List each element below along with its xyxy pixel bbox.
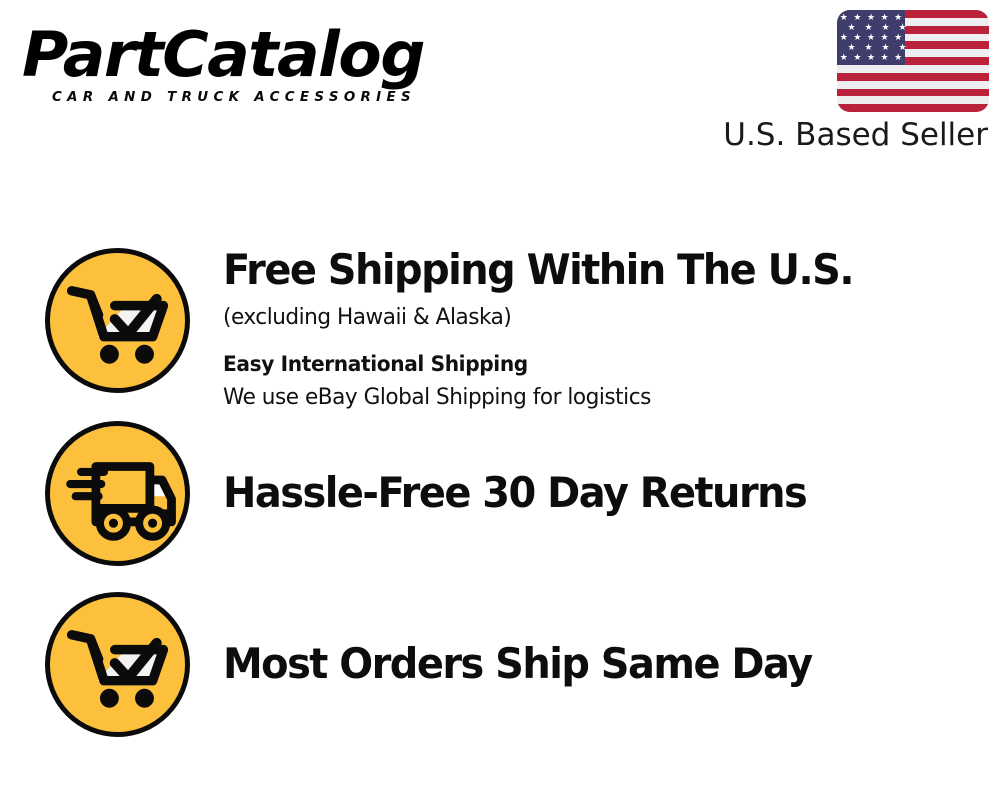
flag-stripe bbox=[837, 96, 989, 104]
benefit-title: Hassle-Free 30 Day Returns bbox=[223, 471, 945, 515]
benefit-subline: We use eBay Global Shipping for logistic… bbox=[223, 383, 953, 411]
shopping-cart-check-icon bbox=[45, 592, 190, 737]
page-header: PartCatalog CAR AND TRUCK ACCESSORIES ★★… bbox=[0, 0, 1000, 175]
flag-stripe bbox=[837, 81, 989, 89]
benefit-title: Most Orders Ship Same Day bbox=[223, 642, 945, 686]
flag-stripe bbox=[837, 89, 989, 97]
benefit-text: Hassle-Free 30 Day Returns bbox=[223, 471, 983, 515]
flag-stripe bbox=[837, 104, 989, 112]
benefit-text: Most Orders Ship Same Day bbox=[223, 642, 983, 686]
benefit-subline-bold: Easy International Shipping bbox=[223, 350, 953, 378]
shopping-cart-check-icon bbox=[45, 248, 190, 393]
benefit-subline: (excluding Hawaii & Alaska) bbox=[223, 303, 953, 331]
delivery-truck-icon bbox=[45, 421, 190, 566]
flag-stripe bbox=[837, 73, 989, 81]
brand-logo[interactable]: PartCatalog CAR AND TRUCK ACCESSORIES bbox=[22, 22, 492, 105]
brand-wordmark: PartCatalog bbox=[22, 22, 501, 88]
us-based-seller-label: U.S. Based Seller bbox=[723, 117, 988, 153]
us-flag-icon: ★★★★★ ★★★★ ★★★★★ ★★★★ ★★★★★ bbox=[837, 10, 989, 112]
flag-canton: ★★★★★ ★★★★ ★★★★★ ★★★★ ★★★★★ bbox=[837, 10, 905, 65]
benefit-title: Free Shipping Within The U.S. bbox=[223, 248, 945, 292]
brand-tagline: CAR AND TRUCK ACCESSORIES bbox=[52, 89, 488, 105]
flag-stripe bbox=[837, 65, 989, 73]
benefit-text: Free Shipping Within The U.S. (excluding… bbox=[223, 248, 983, 411]
